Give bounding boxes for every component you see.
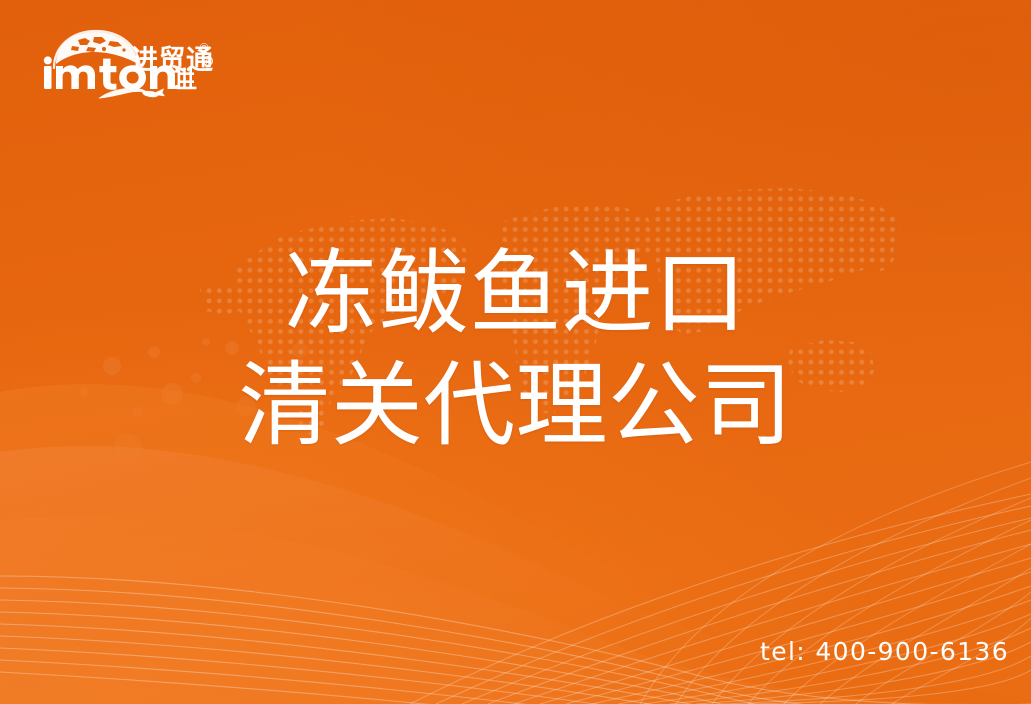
logo-chinese-text: 进贸通 xyxy=(131,44,241,78)
logo-registered-label: ® xyxy=(200,42,208,54)
curved-line-fan xyxy=(0,0,1031,704)
fish-swoosh-icon xyxy=(98,88,165,99)
telephone-label: tel: 400-900-6136 xyxy=(760,637,1009,666)
promo-banner: R 进贸通 ® 冻鲅鱼进口 清关代理公司 tel: 400-900-6136 xyxy=(0,0,1031,704)
globe-arc-icon xyxy=(54,31,140,68)
